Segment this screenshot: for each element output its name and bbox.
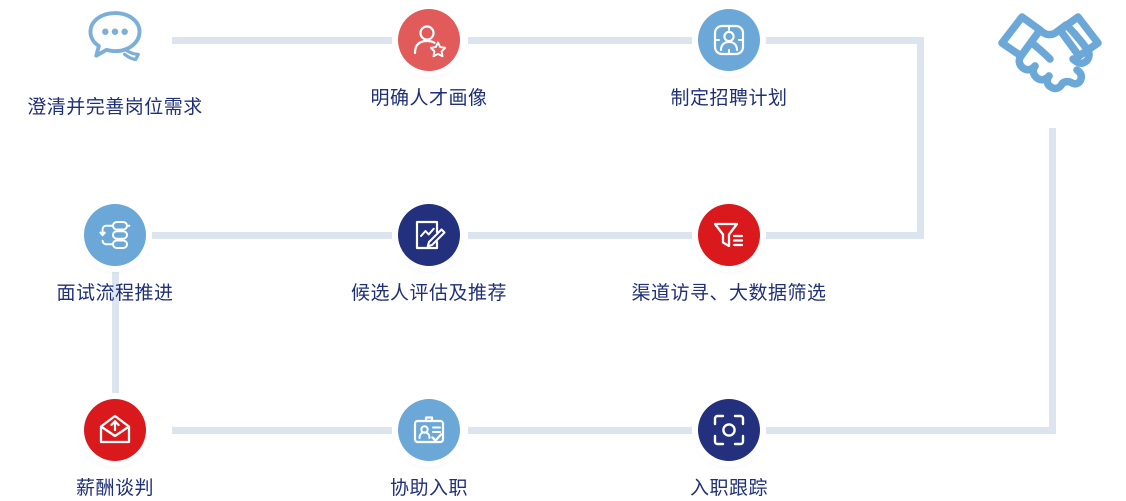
icon-wrapper xyxy=(84,204,146,266)
node-label: 候选人评估及推荐 xyxy=(319,282,539,306)
person-target-frame-icon xyxy=(698,9,760,71)
icon-wrapper xyxy=(84,4,146,66)
node-clarify-position-requirements[interactable]: 澄清并完善岗位需求 xyxy=(5,4,225,120)
icon-wrapper xyxy=(398,9,460,71)
node-label: 协助入职 xyxy=(319,477,539,501)
node-create-recruitment-plan[interactable]: 制定招聘计划 xyxy=(619,9,839,111)
chat-bubble-icon xyxy=(84,4,146,66)
node-salary-negotiation[interactable]: 薪酬谈判 xyxy=(5,399,225,501)
icon-wrapper xyxy=(698,204,760,266)
connector-far-right-vertical xyxy=(1049,128,1056,434)
document-edit-icon xyxy=(398,204,460,266)
connector-right-elbow-down xyxy=(917,37,924,239)
icon-wrapper xyxy=(698,9,760,71)
node-label: 薪酬谈判 xyxy=(5,477,225,501)
node-onboarding-tracking[interactable]: 入职跟踪 xyxy=(619,399,839,501)
person-star-icon xyxy=(398,9,460,71)
node-channel-sourcing-bigdata-screening[interactable]: 渠道访寻、大数据筛选 xyxy=(619,204,839,306)
process-flow-diagram: 澄清并完善岗位需求 明确人才画像 xyxy=(0,0,1126,501)
icon-wrapper xyxy=(398,204,460,266)
node-label: 明确人才画像 xyxy=(319,87,539,111)
handshake-icon xyxy=(988,3,1112,104)
filter-funnel-icon xyxy=(698,204,760,266)
node-label: 制定招聘计划 xyxy=(619,87,839,111)
node-label: 面试流程推进 xyxy=(5,282,225,306)
envelope-upload-icon xyxy=(84,399,146,461)
node-label: 澄清并完善岗位需求 xyxy=(5,96,225,120)
process-flow-icon xyxy=(84,204,146,266)
node-interview-process[interactable]: 面试流程推进 xyxy=(5,204,225,306)
id-badge-check-icon xyxy=(398,399,460,461)
icon-wrapper xyxy=(398,399,460,461)
node-onboarding-assistance[interactable]: 协助入职 xyxy=(319,399,539,501)
icon-wrapper xyxy=(698,399,760,461)
node-label: 入职跟踪 xyxy=(619,477,839,501)
focus-scan-icon xyxy=(698,399,760,461)
node-candidate-assessment[interactable]: 候选人评估及推荐 xyxy=(319,204,539,306)
node-define-talent-profile[interactable]: 明确人才画像 xyxy=(319,9,539,111)
icon-wrapper xyxy=(84,399,146,461)
node-label: 渠道访寻、大数据筛选 xyxy=(619,282,839,306)
